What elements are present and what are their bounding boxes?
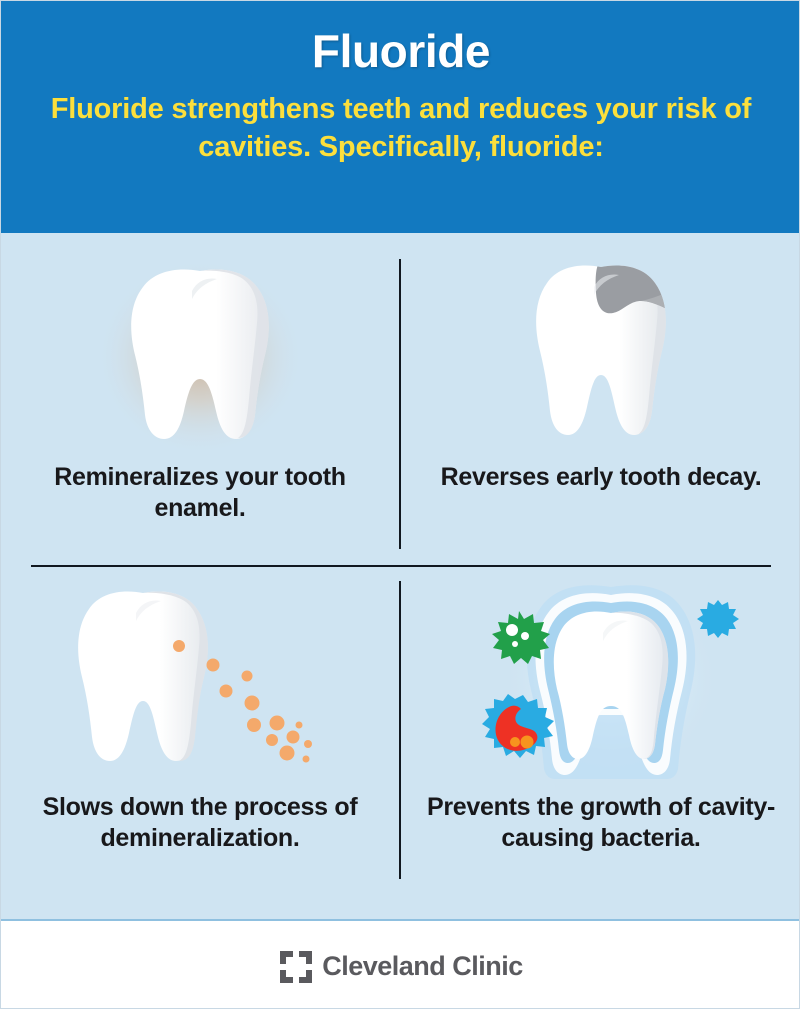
- panel-caption: Reverses early tooth decay.: [401, 462, 800, 493]
- tooth-decay-spot-icon: [501, 243, 701, 458]
- brand-logo: Cleveland Clinic: [279, 950, 523, 984]
- panel-reverses-decay: Reverses early tooth decay.: [401, 243, 800, 563]
- panel-caption: Remineralizes your tooth enamel.: [1, 462, 399, 523]
- panel-prevents-bacteria: Prevents the growth of cavity-causing ba…: [401, 573, 800, 883]
- panel-remineralizes: Remineralizes your tooth enamel.: [1, 243, 399, 563]
- brand-name: Cleveland Clinic: [322, 951, 523, 982]
- tooth-shield-bacteria-icon: [451, 573, 751, 783]
- footer-bar: Cleveland Clinic: [1, 919, 800, 1009]
- panel-caption: Slows down the process of demineralizati…: [1, 792, 399, 853]
- tooth-glow-illustration: [1, 243, 399, 458]
- tooth-demineralization-illustration: [1, 573, 399, 788]
- tooth-decay-illustration: [401, 243, 800, 458]
- page-title: Fluoride: [23, 27, 779, 75]
- cleveland-clinic-logo-icon: [279, 950, 313, 984]
- header-banner: Fluoride Fluoride strengthens teeth and …: [1, 1, 800, 233]
- page-subtitle: Fluoride strengthens teeth and reduces y…: [31, 91, 771, 166]
- tooth-mineral-loss-icon: [65, 573, 335, 778]
- panel-slows-demineralization: Slows down the process of demineralizati…: [1, 573, 399, 883]
- horizontal-divider: [31, 565, 771, 567]
- tooth-glow-icon: [85, 243, 315, 458]
- panel-caption: Prevents the growth of cavity-causing ba…: [401, 792, 800, 853]
- fluoride-infographic: Fluoride Fluoride strengthens teeth and …: [0, 0, 800, 1009]
- tooth-shield-bacteria-illustration: [401, 573, 800, 788]
- panel-grid: Remineralizes your tooth enamel.: [1, 233, 800, 919]
